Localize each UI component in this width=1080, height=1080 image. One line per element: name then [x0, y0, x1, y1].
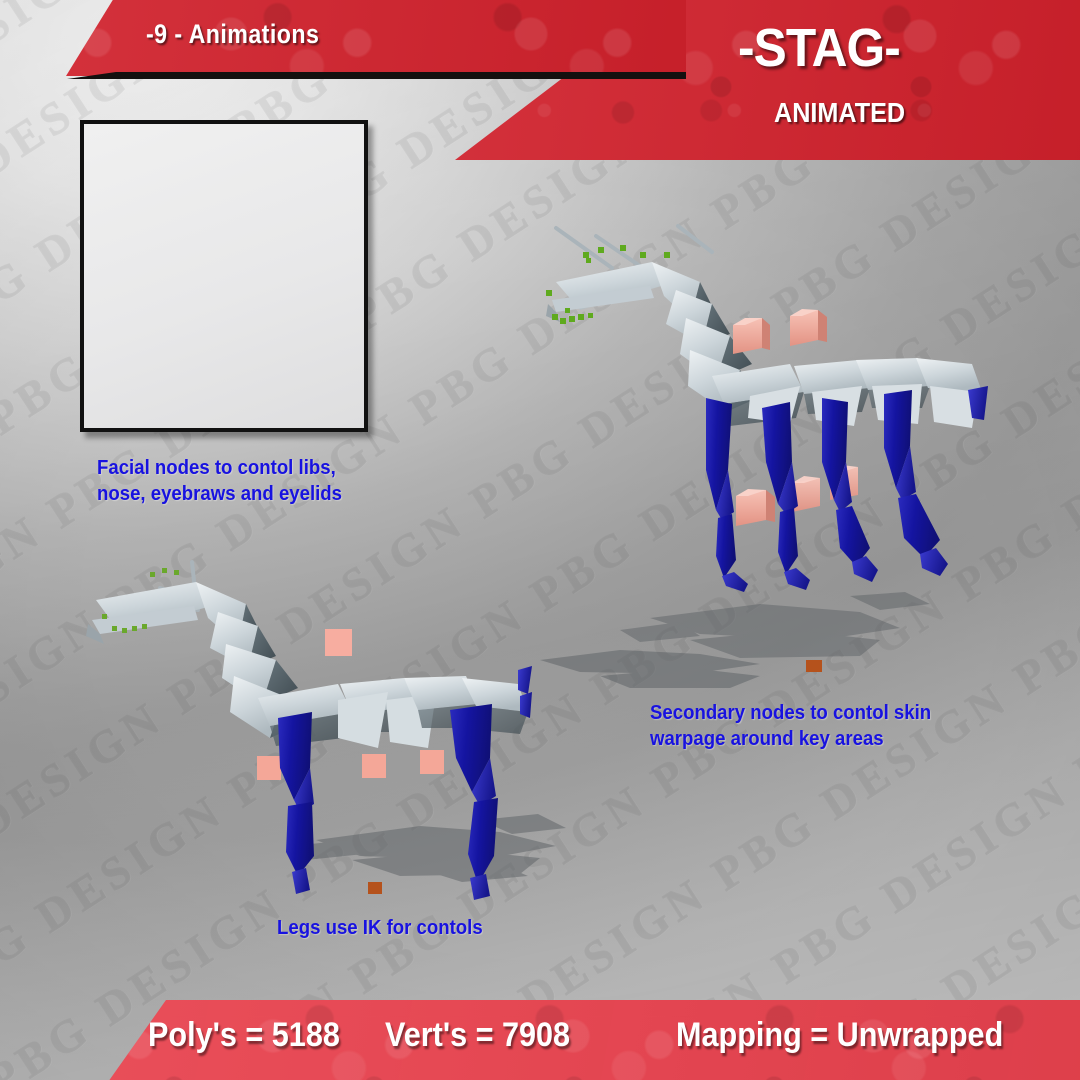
- annotation-line: nose, eyebraws and eyelids: [97, 481, 376, 507]
- annotation-ik-legs: Legs use IK for contols: [277, 915, 537, 941]
- annotation-secondary-nodes: Secondary nodes to contol skin warpage a…: [650, 700, 957, 753]
- inset-background: [84, 124, 364, 428]
- banner-divider: [66, 72, 686, 79]
- annotation-line: Legs use IK for contols: [277, 915, 537, 941]
- ground-shadow: [620, 592, 930, 658]
- ik-goal-marker: [368, 882, 382, 894]
- ik-goal-marker: [806, 660, 822, 672]
- antler-bones: [556, 226, 712, 268]
- model-sheet: PBG DESIGN PBG DESIGN PBG DESIGN PBG DES…: [0, 0, 1080, 1080]
- page-title: -9 - Animations: [146, 19, 319, 50]
- annotation-facial-nodes: Facial nodes to contol libs, nose, eyebr…: [97, 455, 376, 508]
- annotation-line: Secondary nodes to contol skin: [650, 700, 957, 726]
- rig-upper-right: [546, 226, 988, 658]
- stat-vertex-count: Vert's = 7908: [385, 1016, 570, 1055]
- stat-mapping: Mapping = Unwrapped: [676, 1016, 1003, 1055]
- annotation-line: warpage around key areas: [650, 726, 957, 752]
- model-subtitle: ANIMATED: [774, 97, 905, 129]
- annotation-line: Facial nodes to contol libs,: [97, 455, 376, 481]
- model-name: -STAG-: [738, 21, 900, 75]
- facial-rig-inset-panel[interactable]: [80, 120, 368, 432]
- stat-polygon-count: Poly's = 5188: [148, 1016, 340, 1055]
